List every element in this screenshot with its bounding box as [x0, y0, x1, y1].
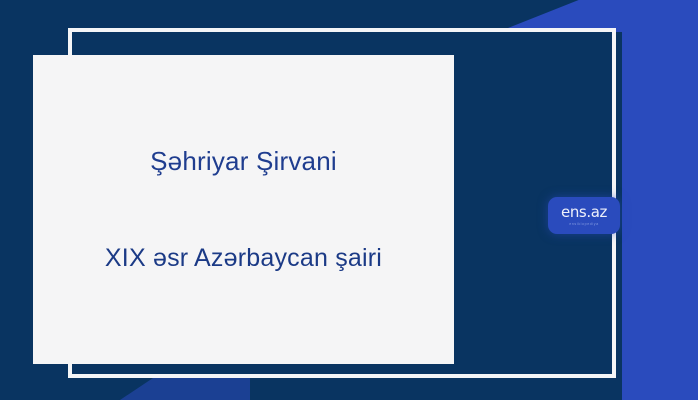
slide-canvas: Şəhriyar Şirvani XIX əsr Azərbaycan şair… [0, 0, 698, 400]
page-title: Şəhriyar Şirvani [150, 146, 337, 177]
page-subtitle: XIX əsr Azərbaycan şairi [105, 243, 382, 273]
content-card-inner: Şəhriyar Şirvani XIX əsr Azərbaycan şair… [33, 55, 454, 364]
logo-wordmark: ens.az [561, 205, 607, 220]
ensaz-logo-badge[interactable]: ens.az ensiklopediya [548, 197, 620, 234]
logo-tagline: ensiklopediya [569, 223, 599, 227]
content-card: Şəhriyar Şirvani XIX əsr Azərbaycan şair… [33, 55, 454, 364]
right-accent-panel [622, 0, 698, 400]
